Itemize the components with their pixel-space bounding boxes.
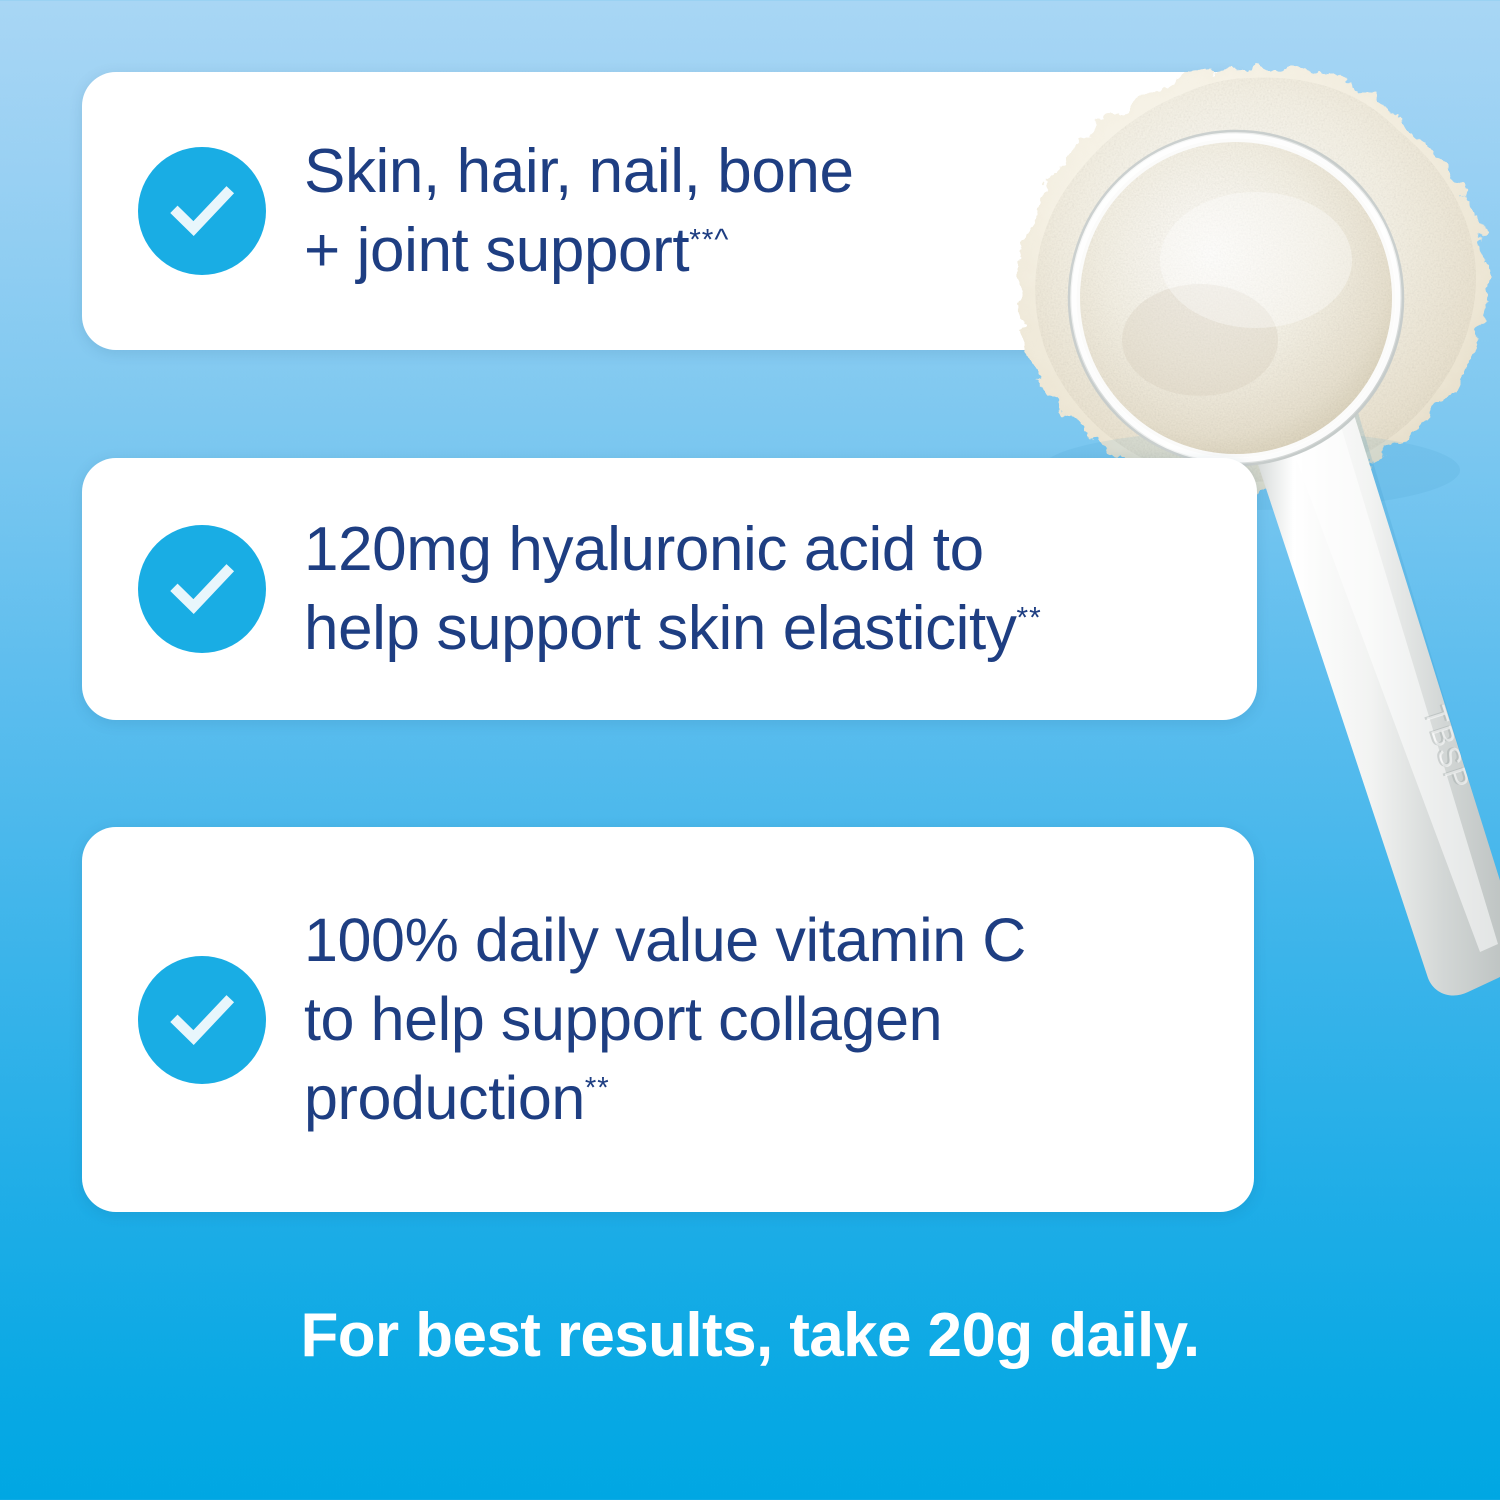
- benefit-text-3: 100% daily value vitamin C to help suppo…: [304, 901, 1052, 1139]
- spoon-tbsp-label: TBSP: [1415, 702, 1473, 794]
- benefit-card-1: Skin, hair, nail, bone + joint support**…: [82, 72, 1257, 350]
- footer-note: For best results, take 20g daily.: [0, 1300, 1500, 1371]
- svg-text:TBSP: TBSP: [1418, 702, 1476, 794]
- benefit-card-3: 100% daily value vitamin C to help suppo…: [82, 827, 1254, 1212]
- benefit-text-2: 120mg hyaluronic acid to help support sk…: [304, 510, 1068, 669]
- benefit-superscript-3: **: [585, 1072, 610, 1105]
- check-icon-wrap-1: [138, 147, 266, 275]
- check-icon: [138, 147, 266, 275]
- benefit-line-1b: + joint support: [304, 216, 689, 285]
- check-icon-wrap-3: [138, 956, 266, 1084]
- benefit-superscript-2: **: [1017, 601, 1042, 634]
- benefit-line-1a: Skin, hair, nail, bone: [304, 137, 854, 206]
- check-icon-wrap-2: [138, 525, 266, 653]
- benefit-line-2a: 120mg hyaluronic acid to: [304, 515, 984, 584]
- benefit-line-3c: production: [304, 1064, 585, 1132]
- benefit-line-2b: help support skin elasticity: [304, 594, 1017, 663]
- check-icon: [138, 525, 266, 653]
- benefit-text-1: Skin, hair, nail, bone + joint support**…: [304, 132, 880, 291]
- benefit-superscript-1: **^: [689, 223, 729, 256]
- benefit-card-2: 120mg hyaluronic acid to help support sk…: [82, 458, 1257, 720]
- benefit-line-3b: to help support collagen: [304, 985, 942, 1053]
- check-icon: [138, 956, 266, 1084]
- benefit-line-3a: 100% daily value vitamin C: [304, 906, 1026, 974]
